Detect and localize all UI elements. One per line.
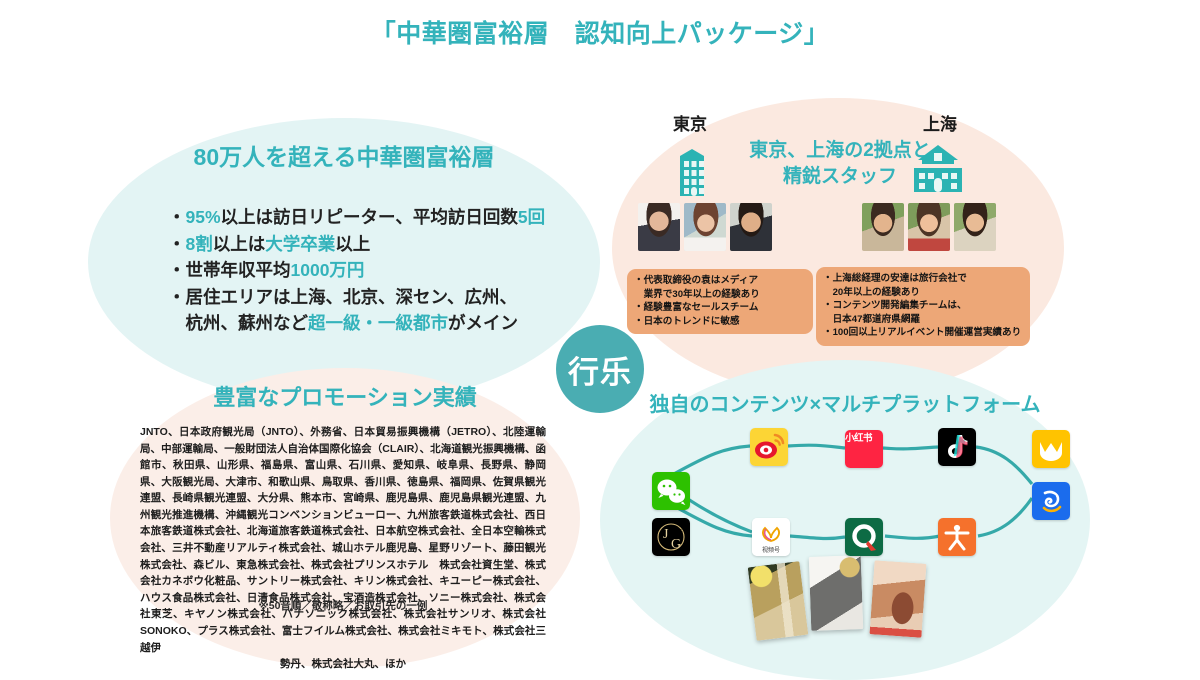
bullet-marker: ・	[168, 204, 186, 231]
bullet-tail: がメイン	[448, 313, 518, 333]
bullet-text: 以上は訪日リピーター、平均訪日回数	[221, 207, 518, 227]
list-item: 日本47都道府県網羅	[823, 313, 1023, 327]
audience-bullet-list: ・95%以上は訪日リピーター、平均訪日回数5回 ・8割以上は大学卒業以上 ・世帯…	[128, 204, 638, 337]
bullet-marker: ・	[168, 231, 186, 258]
list-item: ・代表取締役の袁はメディア	[634, 274, 806, 288]
list-item: ・上海総経理の安達は旅行会社で	[823, 272, 1023, 286]
office-building-icon	[672, 142, 712, 203]
city-label-shanghai: 上海	[895, 110, 985, 135]
qq-icon[interactable]	[845, 518, 883, 556]
xiaohongshu-icon[interactable]: 小红书	[845, 430, 883, 468]
bullet-highlight-2: 超一級・一級都市	[308, 313, 448, 333]
list-item: ・100回以上リアルイベント開催運営実績あり	[823, 326, 1023, 340]
list-item: 業界で30年以上の経験あり	[634, 288, 806, 302]
bullet-highlight-2: 5回	[518, 207, 545, 227]
audience-heading: 80万人を超える中華圏富裕層	[88, 138, 600, 172]
avatar	[684, 203, 726, 251]
list-item: ・95%以上は訪日リピーター、平均訪日回数5回	[168, 204, 638, 231]
dianping-icon[interactable]	[938, 518, 976, 556]
xingle-brand-logo: 行乐	[556, 325, 644, 413]
wechat-icon[interactable]	[652, 472, 690, 510]
promotions-footnote: ※50音順／敬称略／お取引先の一例	[140, 598, 546, 613]
bullet-marker	[168, 310, 186, 337]
magazine-cover	[809, 555, 864, 631]
xiaohongshu-label: 小红书	[845, 430, 883, 468]
meituan-icon[interactable]	[1032, 430, 1070, 468]
bullet-highlight: 8割	[186, 234, 213, 254]
wechat-channels-icon[interactable]: 视频号	[752, 518, 790, 556]
list-item: ・世帯年収平均1000万円	[168, 257, 638, 284]
weibo-icon[interactable]	[750, 428, 788, 466]
magazine-cover	[869, 560, 926, 637]
bullet-text: 杭州、蘇州など	[186, 313, 309, 333]
xinglejg-icon[interactable]: J G 行乐	[652, 518, 690, 556]
promotions-client-list: JNTO、日本政府観光局（JNTO）、外務省、日本貿易振興機構（JETRO）、北…	[140, 424, 546, 673]
bullet-highlight-2: 1000万円	[291, 260, 365, 280]
tokyo-staff-photos	[638, 203, 772, 251]
bullet-text: 世帯年収平均	[186, 260, 291, 280]
avatar	[908, 203, 950, 251]
tokyo-notes-box: ・代表取締役の袁はメディア 業界で30年以上の経験あり ・経験豊富なセールスチー…	[627, 269, 813, 334]
bullet-highlight-2: 大学卒業	[265, 234, 335, 254]
magazine-cover	[748, 561, 809, 641]
list-item: 20年以上の経験あり	[823, 286, 1023, 300]
shanghai-notes-box: ・上海総経理の安達は旅行会社で 20年以上の経験あり ・コンテンツ開発編集チーム…	[816, 267, 1030, 346]
promotions-heading: 豊富なプロモーション実績	[110, 380, 580, 412]
platforms-heading: 独自のコンテンツ×マルチプラットフォーム	[610, 388, 1080, 417]
ctrip-icon[interactable]	[1032, 482, 1070, 520]
city-label-tokyo: 東京	[645, 110, 735, 135]
list-item: ・コンテンツ開発編集チームは、	[823, 299, 1023, 313]
school-building-icon	[910, 142, 966, 199]
douyin-icon[interactable]	[938, 428, 976, 466]
list-item: ・居住エリアは上海、北京、深セン、広州、	[168, 284, 638, 311]
avatar	[730, 203, 772, 251]
list-item: 杭州、蘇州など超一級・一級都市がメイン	[168, 310, 638, 337]
list-item: ・経験豊富なセールスチーム	[634, 301, 806, 315]
svg-text:G: G	[671, 537, 681, 552]
bullet-marker: ・	[168, 284, 186, 311]
bullet-text: 以上は	[213, 234, 266, 254]
shanghai-staff-photos	[862, 203, 996, 251]
bullet-highlight: 95%	[186, 207, 221, 227]
client-list-text: JNTO、日本政府観光局（JNTO）、外務省、日本貿易振興機構（JETRO）、北…	[140, 426, 546, 654]
client-list-last-line: 勢丹、株式会社大丸、ほか	[140, 656, 546, 673]
avatar	[954, 203, 996, 251]
page-title: 「中華圏富裕層 認知向上パッケージ」	[0, 14, 1200, 50]
avatar	[638, 203, 680, 251]
channels-label: 视频号	[752, 545, 790, 554]
bullet-text: 居住エリアは上海、北京、深セン、広州、	[186, 287, 517, 307]
avatar	[862, 203, 904, 251]
bullet-tail: 以上	[335, 234, 370, 254]
svg-text:J: J	[663, 527, 669, 542]
list-item: ・日本のトレンドに敏感	[634, 315, 806, 329]
magazine-covers	[752, 552, 952, 652]
slide-canvas: 「中華圏富裕層 認知向上パッケージ」 80万人を超える中華圏富裕層 ・95%以上…	[0, 0, 1200, 675]
svg-text:行乐: 行乐	[674, 528, 683, 535]
bullet-marker: ・	[168, 257, 186, 284]
list-item: ・8割以上は大学卒業以上	[168, 231, 638, 258]
